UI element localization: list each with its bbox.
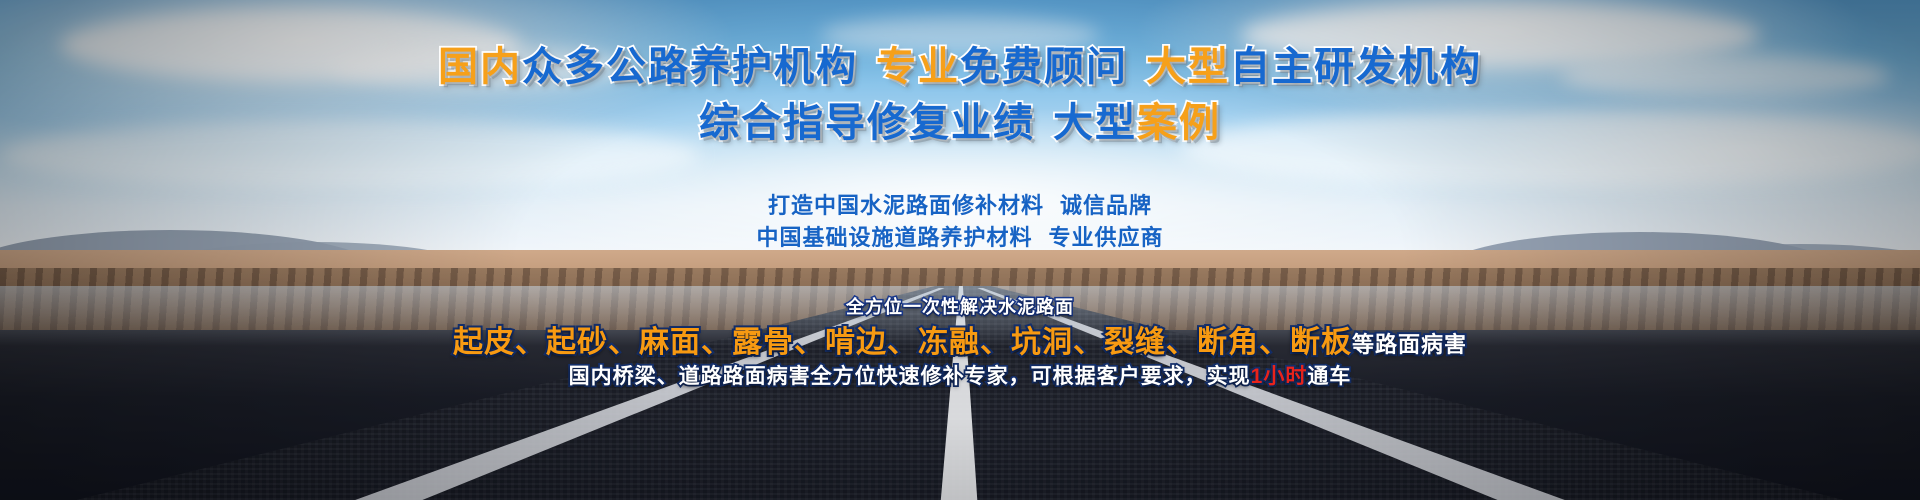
headline-line-2: 综合指导修复业绩大型案例 [0,103,1920,143]
bottom-closing-line: 国内桥梁、道路路面病害全方位快速修补专家，可根据客户要求，实现1小时通车 [0,360,1920,390]
subhead-brand-material: 打造中国水泥路面修补材料 [768,193,1044,218]
damage-list-suffix: 等路面病害 [1352,332,1467,357]
headline-seg-large-2: 大型 [1053,101,1137,145]
closing-text-a: 国内桥梁、道路路面病害全方位快速修补专家，可根据客户要求，实现 [569,365,1251,388]
bottom-eyebrow: 全方位一次性解决水泥路面 [0,293,1920,319]
headline-seg-professional: 专业 [876,45,960,89]
headline-seg-agencies: 众多公路养护机构 [522,45,858,89]
bottom-damage-line: 起皮、起砂、麻面、露骨、啃边、冻融、坑洞、裂缝、断角、断板等路面病害 [0,317,1920,361]
subhead-line-1: 打造中国水泥路面修补材料诚信品牌 [0,190,1920,222]
subhead-trust-brand: 诚信品牌 [1060,193,1152,218]
closing-highlight-hour: 1小时 [1251,365,1308,388]
damage-type-list: 起皮、起砂、麻面、露骨、啃边、冻融、坑洞、裂缝、断角、断板 [453,326,1352,359]
headline-seg-domestic: 国内 [438,45,522,89]
subhead-infra-material: 中国基础设施道路养护材料 [756,225,1032,250]
headline-seg-rnd: 自主研发机构 [1230,45,1482,89]
closing-text-b: 通车 [1307,365,1351,388]
subhead-supplier: 专业供应商 [1049,225,1164,250]
headline-seg-guidance: 综合指导修复业绩 [699,101,1035,145]
headline-seg-cases: 案例 [1137,101,1221,145]
headline-seg-large: 大型 [1146,45,1230,89]
headline-line-1: 国内众多公路养护机构专业免费顾问大型自主研发机构 [0,47,1920,87]
subhead-line-2: 中国基础设施道路养护材料专业供应商 [0,222,1920,254]
promo-banner: 国内众多公路养护机构专业免费顾问大型自主研发机构 综合指导修复业绩大型案例 打造… [0,0,1920,500]
headline-seg-free-consult: 免费顾问 [960,45,1128,89]
